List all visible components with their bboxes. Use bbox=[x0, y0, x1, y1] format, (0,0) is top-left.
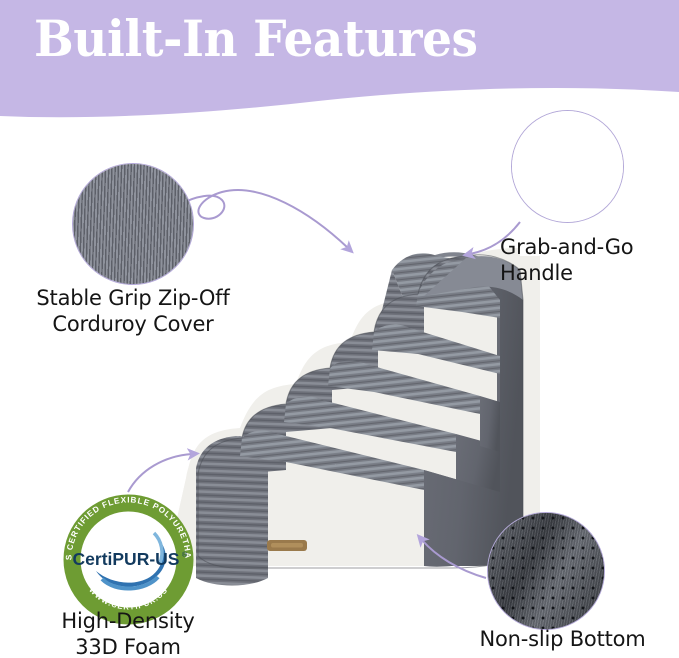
svg-text:®: ® bbox=[182, 551, 188, 559]
nonslip-texture bbox=[488, 513, 604, 629]
infographic-canvas: Built-In Features bbox=[0, 0, 679, 658]
grab-and-go-inset-circle bbox=[511, 110, 624, 223]
high-density-label: High-Density 33D Foam bbox=[5, 608, 251, 658]
badge-center-text: CertiPUR-US bbox=[73, 549, 180, 569]
corduroy-texture bbox=[73, 164, 193, 284]
non-slip-label: Non-slip Bottom bbox=[450, 626, 675, 652]
certipur-badge: CONTAINS CERTIFIED FLEXIBLE POLYURETHANE… bbox=[62, 493, 195, 626]
stable-grip-inset-circle bbox=[72, 163, 194, 285]
stable-grip-label: Stable Grip Zip-Off Corduroy Cover bbox=[8, 285, 258, 337]
non-slip-inset-circle bbox=[487, 512, 605, 630]
grab-and-go-label: Grab-and-Go Handle bbox=[500, 234, 675, 286]
